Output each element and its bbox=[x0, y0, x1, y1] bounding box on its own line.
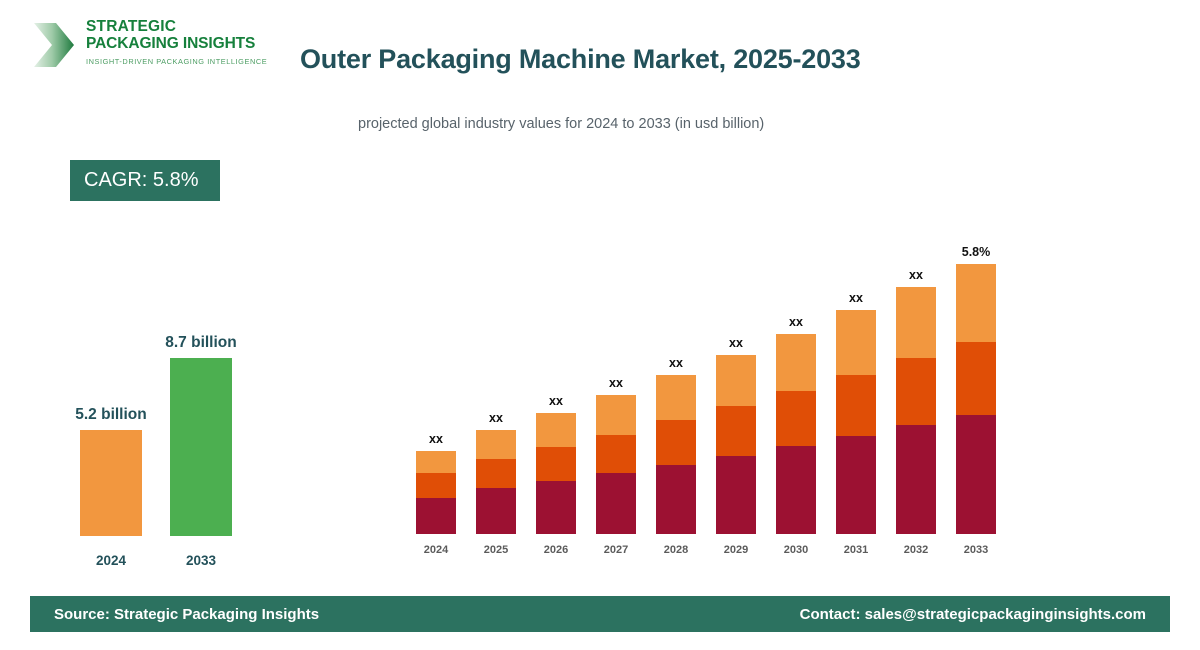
brand-logo-text: STRATEGIC PACKAGING INSIGHTS INSIGHT-DRI… bbox=[86, 18, 267, 66]
logo-line-1: STRATEGIC bbox=[86, 18, 267, 35]
axis-year-label: 2031 bbox=[826, 544, 886, 556]
stacked-segment-segment-1 bbox=[776, 446, 816, 534]
stacked-segment-segment-2 bbox=[656, 420, 696, 464]
forecast-column-2025: xx2025 bbox=[476, 226, 516, 560]
forecast-column-2032: xx2032 bbox=[896, 226, 936, 560]
logo-line-2: PACKAGING INSIGHTS bbox=[86, 35, 267, 52]
stacked-segment-segment-1 bbox=[416, 498, 456, 534]
bar-value-label: xx bbox=[706, 336, 766, 350]
forecast-column-2031: xx2031 bbox=[836, 226, 876, 560]
segmented-forecast-chart: xx2024xx2025xx2026xx2027xx2028xx2029xx20… bbox=[400, 200, 1020, 560]
axis-year-label: 2025 bbox=[466, 544, 526, 556]
forecast-column-2024: xx2024 bbox=[416, 226, 456, 560]
axis-year-label: 2029 bbox=[706, 544, 766, 556]
bar-value-label: xx bbox=[526, 394, 586, 408]
stacked-bar bbox=[596, 395, 636, 534]
footer-bar: Source: Strategic Packaging Insights Con… bbox=[30, 596, 1170, 632]
footer-source: Source: Strategic Packaging Insights bbox=[54, 606, 319, 623]
stacked-bar bbox=[956, 264, 996, 534]
footer-contact: Contact: sales@strategicpackaginginsight… bbox=[800, 606, 1146, 623]
brand-logo: STRATEGIC PACKAGING INSIGHTS INSIGHT-DRI… bbox=[30, 18, 260, 76]
axis-year-label: 2033 bbox=[946, 544, 1006, 556]
comparison-bar-fill bbox=[80, 430, 142, 536]
stacked-segment-segment-2 bbox=[956, 342, 996, 415]
stacked-segment-segment-2 bbox=[536, 447, 576, 481]
comparison-value-label: 5.2 billion bbox=[31, 406, 191, 424]
forecast-column-2029: xx2029 bbox=[716, 226, 756, 560]
axis-year-label: 2024 bbox=[406, 544, 466, 556]
stacked-segment-segment-2 bbox=[416, 473, 456, 498]
stacked-segment-segment-1 bbox=[896, 425, 936, 534]
stacked-bar bbox=[716, 355, 756, 534]
forecast-column-2030: xx2030 bbox=[776, 226, 816, 560]
comparison-year-label: 2033 bbox=[136, 553, 266, 568]
stacked-segment-segment-1 bbox=[596, 473, 636, 534]
stacked-segment-segment-3 bbox=[776, 334, 816, 391]
bar-value-label: xx bbox=[586, 376, 646, 390]
endpoint-comparison-chart: 5.2 billion20248.7 billion2033 bbox=[50, 300, 300, 580]
cagr-badge-label: CAGR: 5.8% bbox=[84, 169, 198, 192]
forecast-column-2028: xx2028 bbox=[656, 226, 696, 560]
stacked-segment-segment-1 bbox=[656, 465, 696, 534]
stacked-segment-segment-2 bbox=[596, 435, 636, 474]
bar-value-label: xx bbox=[886, 268, 946, 282]
stacked-segment-segment-3 bbox=[536, 413, 576, 447]
forecast-column-2026: xx2026 bbox=[536, 226, 576, 560]
stacked-bar bbox=[536, 413, 576, 534]
stacked-bar bbox=[776, 334, 816, 534]
forecast-column-2033: 5.8%2033 bbox=[956, 226, 996, 560]
axis-year-label: 2030 bbox=[766, 544, 826, 556]
stacked-segment-segment-3 bbox=[716, 355, 756, 407]
page-title: Outer Packaging Machine Market, 2025-203… bbox=[300, 44, 861, 75]
stacked-segment-segment-3 bbox=[416, 451, 456, 473]
stacked-segment-segment-3 bbox=[476, 430, 516, 459]
stacked-segment-segment-2 bbox=[476, 459, 516, 488]
stacked-segment-segment-1 bbox=[716, 456, 756, 534]
bar-value-label: xx bbox=[406, 432, 466, 446]
cagr-badge: CAGR: 5.8% bbox=[70, 160, 220, 201]
forecast-column-2027: xx2027 bbox=[596, 226, 636, 560]
comparison-bar-2033 bbox=[170, 358, 232, 536]
bar-value-label: xx bbox=[466, 411, 526, 425]
axis-year-label: 2027 bbox=[586, 544, 646, 556]
bar-value-label: xx bbox=[646, 356, 706, 370]
comparison-bar-fill bbox=[170, 358, 232, 536]
axis-year-label: 2026 bbox=[526, 544, 586, 556]
comparison-value-label: 8.7 billion bbox=[121, 334, 281, 352]
stacked-segment-segment-3 bbox=[956, 264, 996, 342]
stacked-bar bbox=[656, 375, 696, 534]
logo-tagline: INSIGHT-DRIVEN PACKAGING INTELLIGENCE bbox=[86, 57, 267, 66]
stacked-segment-segment-2 bbox=[776, 391, 816, 446]
stacked-segment-segment-1 bbox=[536, 481, 576, 534]
chevron-arrow-icon bbox=[30, 20, 78, 70]
page-subtitle: projected global industry values for 202… bbox=[358, 116, 764, 132]
bar-value-label: xx bbox=[766, 315, 826, 329]
bar-value-label: 5.8% bbox=[946, 245, 1006, 259]
stacked-bar bbox=[476, 430, 516, 534]
stacked-bar bbox=[896, 287, 936, 534]
stacked-segment-segment-3 bbox=[656, 375, 696, 421]
stacked-segment-segment-3 bbox=[596, 395, 636, 435]
stacked-segment-segment-1 bbox=[956, 415, 996, 534]
axis-year-label: 2028 bbox=[646, 544, 706, 556]
stacked-segment-segment-2 bbox=[716, 406, 756, 455]
stacked-segment-segment-1 bbox=[836, 436, 876, 534]
stacked-bar bbox=[416, 451, 456, 534]
comparison-bar-2024 bbox=[80, 430, 142, 536]
stacked-bar bbox=[836, 310, 876, 534]
bar-value-label: xx bbox=[826, 291, 886, 305]
stacked-segment-segment-3 bbox=[836, 310, 876, 374]
stacked-segment-segment-1 bbox=[476, 488, 516, 534]
axis-year-label: 2032 bbox=[886, 544, 946, 556]
stacked-segment-segment-3 bbox=[896, 287, 936, 358]
stacked-segment-segment-2 bbox=[896, 358, 936, 425]
stacked-segment-segment-2 bbox=[836, 375, 876, 436]
